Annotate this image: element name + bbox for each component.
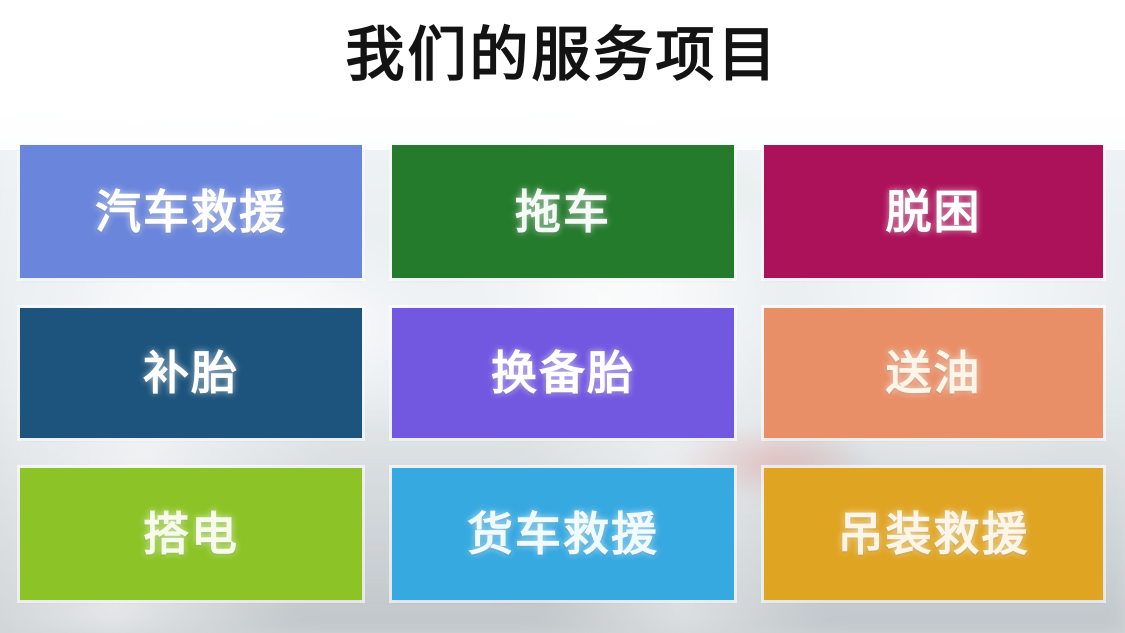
service-tile-label: 换备胎 bbox=[491, 350, 635, 396]
service-tile-label: 拖车 bbox=[515, 189, 611, 235]
service-tile-fuel-delivery[interactable]: 送油 bbox=[764, 308, 1103, 438]
service-tile-jump-start[interactable]: 搭电 bbox=[20, 468, 362, 600]
service-tile-crane-rescue[interactable]: 吊装救援 bbox=[764, 468, 1103, 600]
service-tile-label: 货车救援 bbox=[467, 511, 659, 557]
service-tile-label: 搭电 bbox=[143, 511, 239, 557]
service-poster: 我们的服务项目 汽车救援 拖车 脱困 补胎 换备胎 送油 搭电 货车救援 吊装救… bbox=[0, 0, 1125, 633]
service-tile-spare-tire-change[interactable]: 换备胎 bbox=[392, 308, 734, 438]
service-tile-tire-repair[interactable]: 补胎 bbox=[20, 308, 362, 438]
page-title: 我们的服务项目 bbox=[0, 22, 1125, 88]
service-tile-label: 吊装救援 bbox=[838, 511, 1030, 557]
service-tile-towing[interactable]: 拖车 bbox=[392, 145, 734, 278]
service-tile-grid: 汽车救援 拖车 脱困 补胎 换备胎 送油 搭电 货车救援 吊装救援 bbox=[20, 145, 1103, 600]
service-tile-label: 补胎 bbox=[143, 350, 239, 396]
service-tile-label: 汽车救援 bbox=[95, 189, 287, 235]
service-tile-truck-assistance[interactable]: 货车救援 bbox=[392, 468, 734, 600]
service-tile-roadside-assistance[interactable]: 汽车救援 bbox=[20, 145, 362, 278]
service-tile-extrication[interactable]: 脱困 bbox=[764, 145, 1103, 278]
service-tile-label: 脱困 bbox=[886, 189, 982, 235]
service-tile-label: 送油 bbox=[886, 350, 982, 396]
